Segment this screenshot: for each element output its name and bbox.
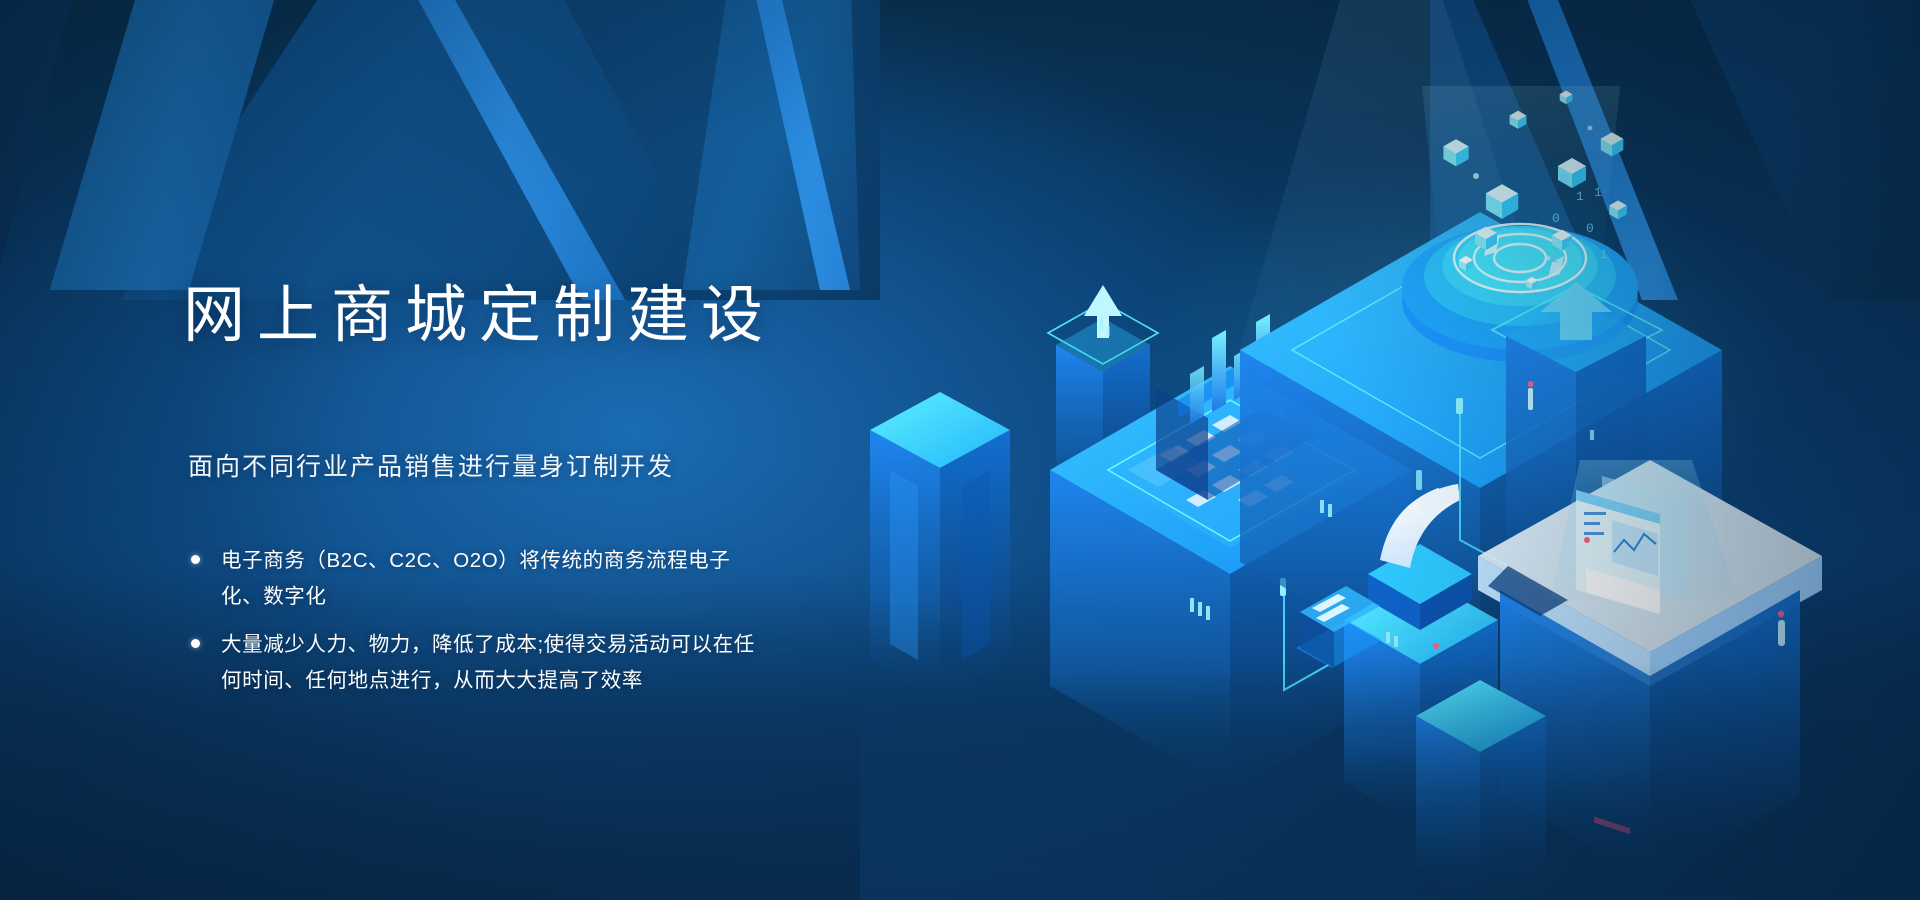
bullet-text: 电子商务（B2C、C2C、O2O）将传统的商务流程电子化、数字化	[221, 543, 761, 615]
page-title: 网上商城定制建设	[183, 285, 775, 347]
list-item: 大量减少人力、物力，降低了成本;使得交易活动可以在任何时间、任何地点进行，从而大…	[185, 627, 805, 699]
list-item: 电子商务（B2C、C2C、O2O）将传统的商务流程电子化、数字化	[185, 543, 805, 615]
feature-bullet-list: 电子商务（B2C、C2C、O2O）将传统的商务流程电子化、数字化 大量减少人力、…	[185, 543, 805, 711]
page-subtitle: 面向不同行业产品销售进行量身订制开发	[188, 447, 674, 483]
banner-text-content: 网上商城定制建设 面向不同行业产品销售进行量身订制开发 电子商务（B2C、C2C…	[0, 0, 1000, 900]
bullet-text: 大量减少人力、物力，降低了成本;使得交易活动可以在任何时间、任何地点进行，从而大…	[221, 627, 761, 699]
bullet-dot-icon	[191, 555, 200, 564]
bullet-dot-icon	[191, 639, 200, 648]
hero-banner: 10 01 10 11	[0, 0, 1920, 900]
